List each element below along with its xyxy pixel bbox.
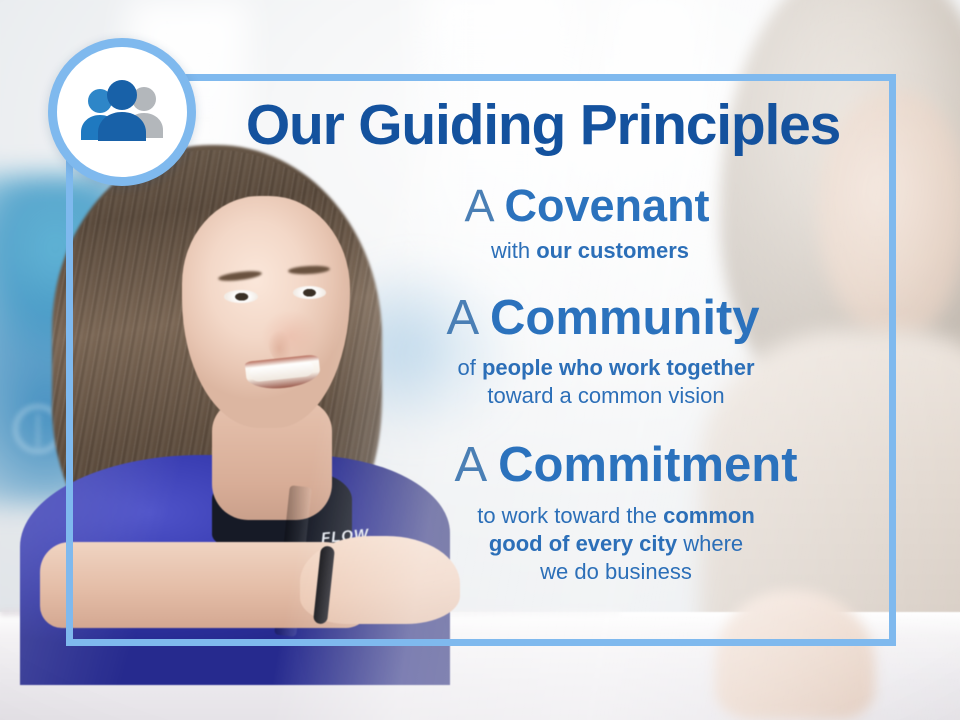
- page-title: Our Guiding Principles: [218, 97, 868, 154]
- principle-commitment-word: Commitment: [498, 438, 797, 492]
- principle-community-article: A: [446, 291, 476, 345]
- community-sub-line2: toward a common vision: [487, 383, 724, 408]
- principle-commitment-article: A: [454, 438, 484, 492]
- principle-community: A Community of people who work together …: [300, 293, 880, 410]
- principle-commitment-title: A Commitment: [372, 440, 880, 492]
- commitment-sub-bold: common: [663, 503, 755, 528]
- poster-canvas: FLOW FLOW Our Guiding Principles: [0, 0, 960, 720]
- principles-list: A Covenant with our customers A Communit…: [300, 182, 880, 593]
- principle-commitment: A Commitment to work toward the common g…: [300, 440, 880, 586]
- commitment-sub-line2-tail: where: [677, 531, 743, 556]
- principle-covenant: A Covenant with our customers: [300, 182, 880, 265]
- commitment-sub-line3: we do business: [540, 559, 692, 584]
- commitment-sub-lead: to work toward the: [477, 503, 663, 528]
- covenant-sub-bold: our customers: [536, 238, 689, 263]
- principle-community-title: A Community: [326, 293, 880, 345]
- principle-commitment-subtitle: to work toward the common good of every …: [406, 502, 826, 586]
- principle-covenant-article: A: [464, 180, 492, 231]
- principle-covenant-title: A Covenant: [294, 182, 880, 230]
- principle-covenant-word: Covenant: [505, 180, 710, 231]
- principle-community-subtitle: of people who work together toward a com…: [332, 354, 880, 410]
- people-group-badge: [48, 38, 196, 186]
- community-sub-bold: people who work together: [482, 355, 755, 380]
- community-sub-lead: of: [457, 355, 481, 380]
- people-group-icon: [76, 79, 168, 145]
- commitment-sub-line2-bold: good of every city: [489, 531, 677, 556]
- principle-covenant-subtitle: with our customers: [300, 237, 880, 265]
- covenant-sub-lead: with: [491, 238, 536, 263]
- principle-community-word: Community: [490, 291, 760, 345]
